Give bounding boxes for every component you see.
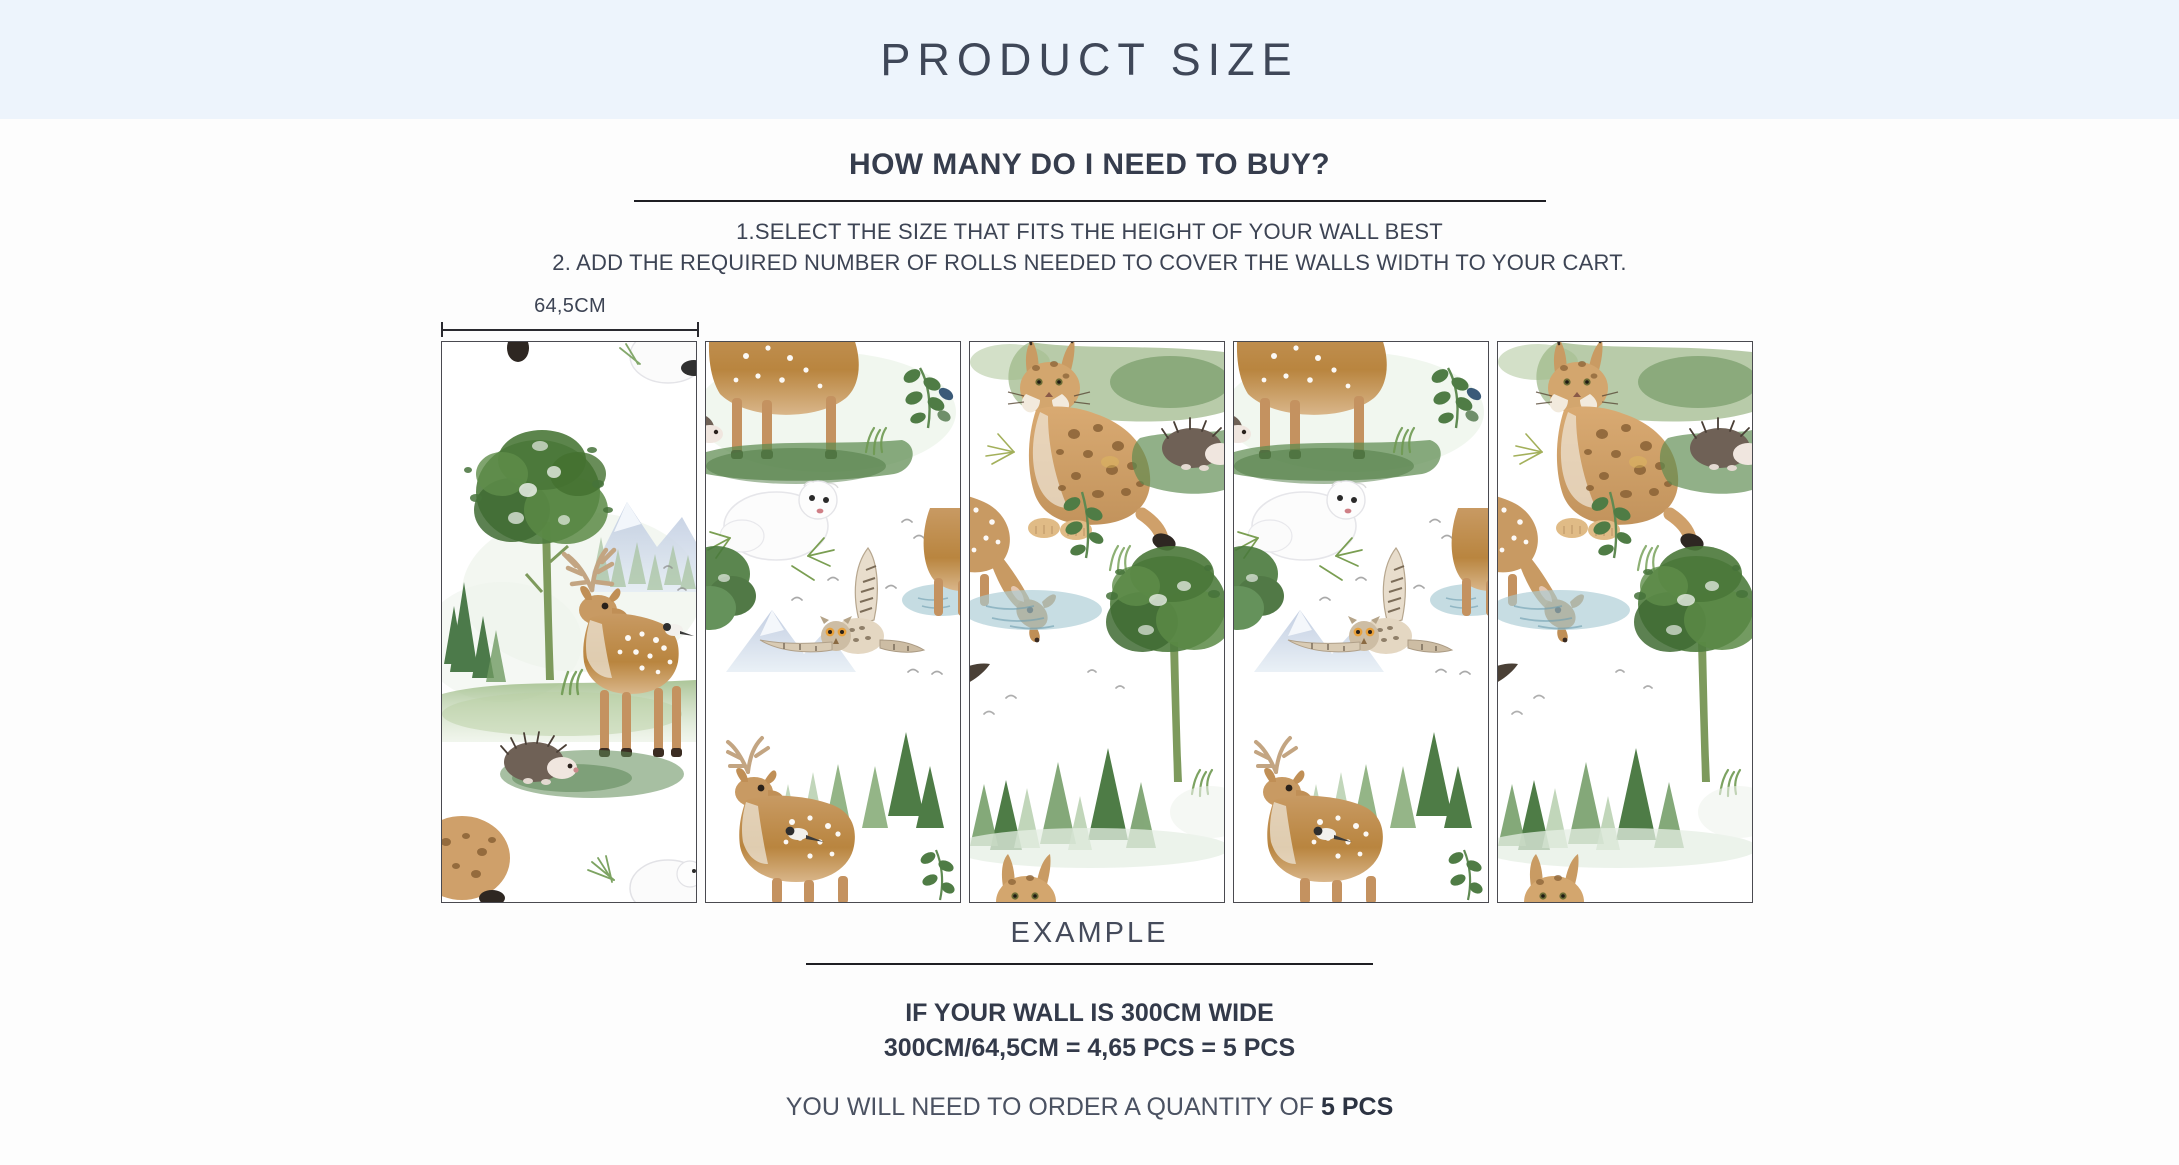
example-order-emphasis: 5 PCS [1321, 1093, 1393, 1121]
product-size-header: PRODUCT SIZE [0, 0, 2179, 119]
example-order-quantity: YOU WILL NEED TO ORDER A QUANTITY OF 5 P… [0, 1093, 2179, 1122]
instruction-item-2: 2. ADD THE REQUIRED NUMBER OF ROLLS NEED… [0, 247, 2179, 278]
wallpaper-panel[interactable] [441, 341, 697, 903]
dimension-line [441, 322, 699, 336]
wallpaper-preview-area: 64,5CM [0, 295, 2179, 895]
heading-divider [634, 200, 1546, 202]
instruction-item-1: 1.SELECT THE SIZE THAT FITS THE HEIGHT O… [0, 216, 2179, 247]
example-order-prefix: YOU WILL NEED TO ORDER A QUANTITY OF [786, 1093, 1321, 1121]
dimension-bar [441, 329, 699, 331]
wallpaper-panel[interactable] [969, 341, 1225, 903]
wallpaper-panel[interactable] [1233, 341, 1489, 903]
example-wall-width: IF YOUR WALL IS 300CM WIDE [0, 999, 2179, 1028]
example-title: EXAMPLE [0, 917, 2179, 950]
dimension-tick-right [697, 322, 699, 337]
dimension-label: 64,5CM [441, 295, 699, 318]
wallpaper-panel[interactable] [1497, 341, 1753, 903]
width-dimension: 64,5CM [441, 295, 699, 336]
page-title: PRODUCT SIZE [880, 34, 1298, 86]
wallpaper-panel[interactable] [705, 341, 961, 903]
wallpaper-panel-row [441, 341, 1753, 903]
section-heading: HOW MANY DO I NEED TO BUY? [0, 148, 2179, 182]
example-section: EXAMPLE IF YOUR WALL IS 300CM WIDE 300CM… [0, 917, 2179, 1122]
instructions-list: 1.SELECT THE SIZE THAT FITS THE HEIGHT O… [0, 216, 2179, 278]
main-content: HOW MANY DO I NEED TO BUY? 1.SELECT THE … [0, 148, 2179, 1122]
example-divider [806, 963, 1373, 965]
example-calculation: 300CM/64,5CM = 4,65 PCS = 5 PCS [0, 1034, 2179, 1063]
